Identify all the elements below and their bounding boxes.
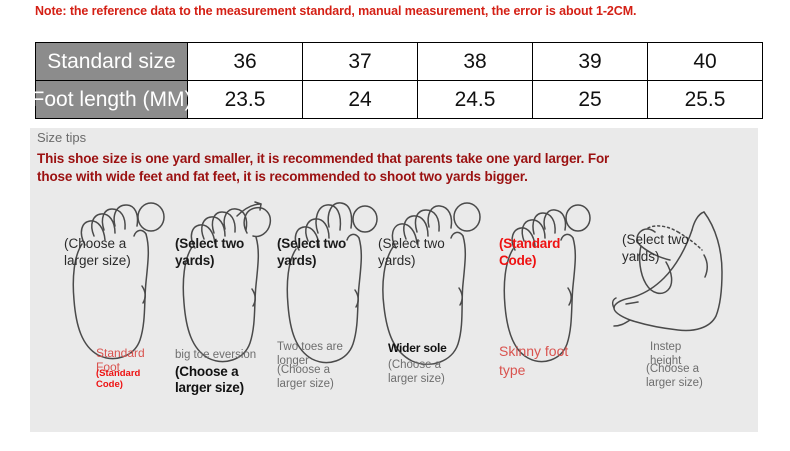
- foot-type-5-caption-a: Skinny foot type: [499, 342, 568, 380]
- cell-length-36: 23.5: [188, 81, 303, 119]
- row-header-standard-size-label: Standard size: [47, 50, 175, 74]
- cell-length-40: 25.5: [648, 81, 763, 119]
- cell-size-36: 36: [188, 43, 303, 81]
- foot-big-toe-eversion-icon: [175, 200, 285, 365]
- foot-type-2-overlay: (Select two yards): [175, 236, 244, 269]
- foot-type-2-caption-b: (Choose a larger size): [175, 364, 244, 396]
- foot-type-1-overlay: (Choose a larger size): [64, 236, 131, 269]
- size-tips-panel: This shoe size is one yard smaller, it i…: [30, 128, 758, 432]
- table-row: Standard size 36 37 38 39 40: [36, 43, 763, 81]
- table-row: Foot length (MM) 23.5 24 24.5 25 25.5: [36, 81, 763, 119]
- cell-size-37: 37: [303, 43, 418, 81]
- cell-size-40: 40: [648, 43, 763, 81]
- size-table: Standard size 36 37 38 39 40 Foot length…: [35, 42, 763, 119]
- cell-size-38: 38: [418, 43, 533, 81]
- foot-type-6-overlay: (Select two yards): [622, 232, 689, 265]
- foot-skinny-icon: [483, 200, 603, 365]
- cell-size-39: 39: [533, 43, 648, 81]
- foot-type-1-caption-b: (Standard Code): [96, 368, 140, 390]
- foot-type-3-overlay: (Select two yards): [277, 236, 346, 269]
- size-tips-label: Size tips: [37, 130, 86, 145]
- size-tips-text: This shoe size is one yard smaller, it i…: [37, 150, 637, 185]
- row-header-foot-length-label: Foot length (MM): [32, 88, 192, 112]
- foot-type-6-caption-b: (Choose a larger size): [646, 362, 703, 390]
- row-header-standard-size: Standard size: [36, 43, 188, 81]
- cell-length-39: 25: [533, 81, 648, 119]
- row-header-foot-length: Foot length (MM): [36, 81, 188, 119]
- foot-type-4-overlay: (Select two yards): [378, 236, 445, 269]
- foot-type-5-overlay: (Standard Code): [499, 236, 560, 269]
- foot-top-view-icon: [58, 200, 178, 365]
- size-chart-page: Note: the reference data to the measurem…: [0, 0, 790, 451]
- measurement-note: Note: the reference data to the measurem…: [35, 4, 675, 19]
- foot-type-gallery: (Choose a larger size) Standard Foot (St…: [30, 200, 758, 430]
- cell-length-37: 24: [303, 81, 418, 119]
- foot-type-2-caption-a: big toe eversion: [175, 348, 256, 362]
- foot-type-4-caption-a: Wider sole: [388, 340, 447, 356]
- foot-type-4-caption-b: (Choose a larger size): [388, 358, 445, 386]
- foot-side-view-instep-icon: [608, 200, 758, 365]
- cell-length-38: 24.5: [418, 81, 533, 119]
- foot-type-3-caption-b: (Choose a larger size): [277, 363, 334, 391]
